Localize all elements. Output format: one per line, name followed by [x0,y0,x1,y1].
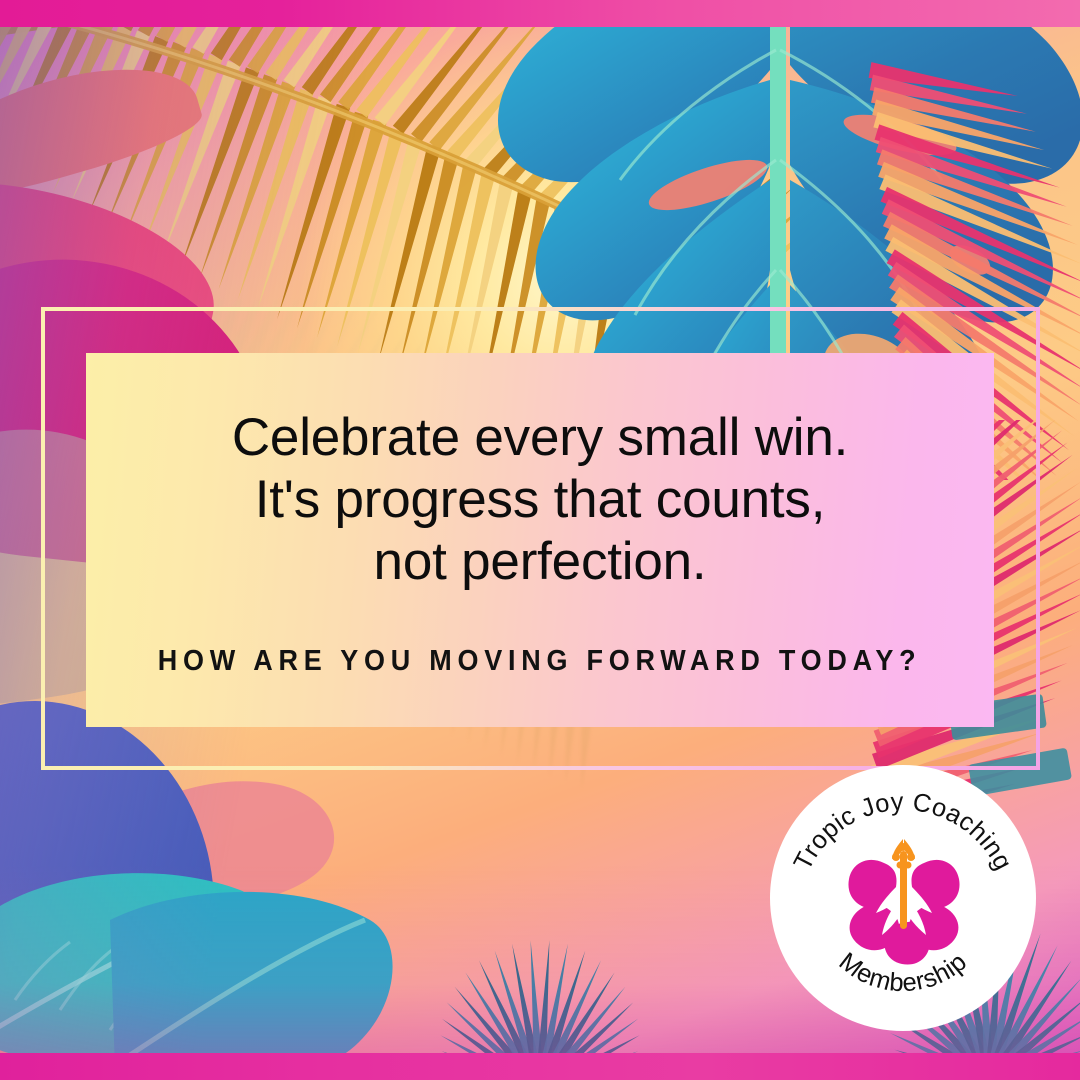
brand-badge[interactable]: Tropic Joy Coaching Membership [770,765,1036,1031]
hibiscus-svg [838,827,970,969]
quote-line-2: It's progress that counts, [232,469,848,531]
quote-text: Celebrate every small win. It's progress… [232,407,848,593]
top-border-band [0,0,1080,27]
bottom-border-band [0,1053,1080,1080]
call-to-action-text: HOW ARE YOU MOVING FORWARD TODAY? [158,593,922,678]
hibiscus-icon [838,827,970,969]
social-post-canvas: Celebrate every small win. It's progress… [0,0,1080,1080]
quote-line-1: Celebrate every small win. [232,407,848,469]
quote-line-3: not perfection. [232,531,848,593]
quote-card: Celebrate every small win. It's progress… [86,353,994,727]
